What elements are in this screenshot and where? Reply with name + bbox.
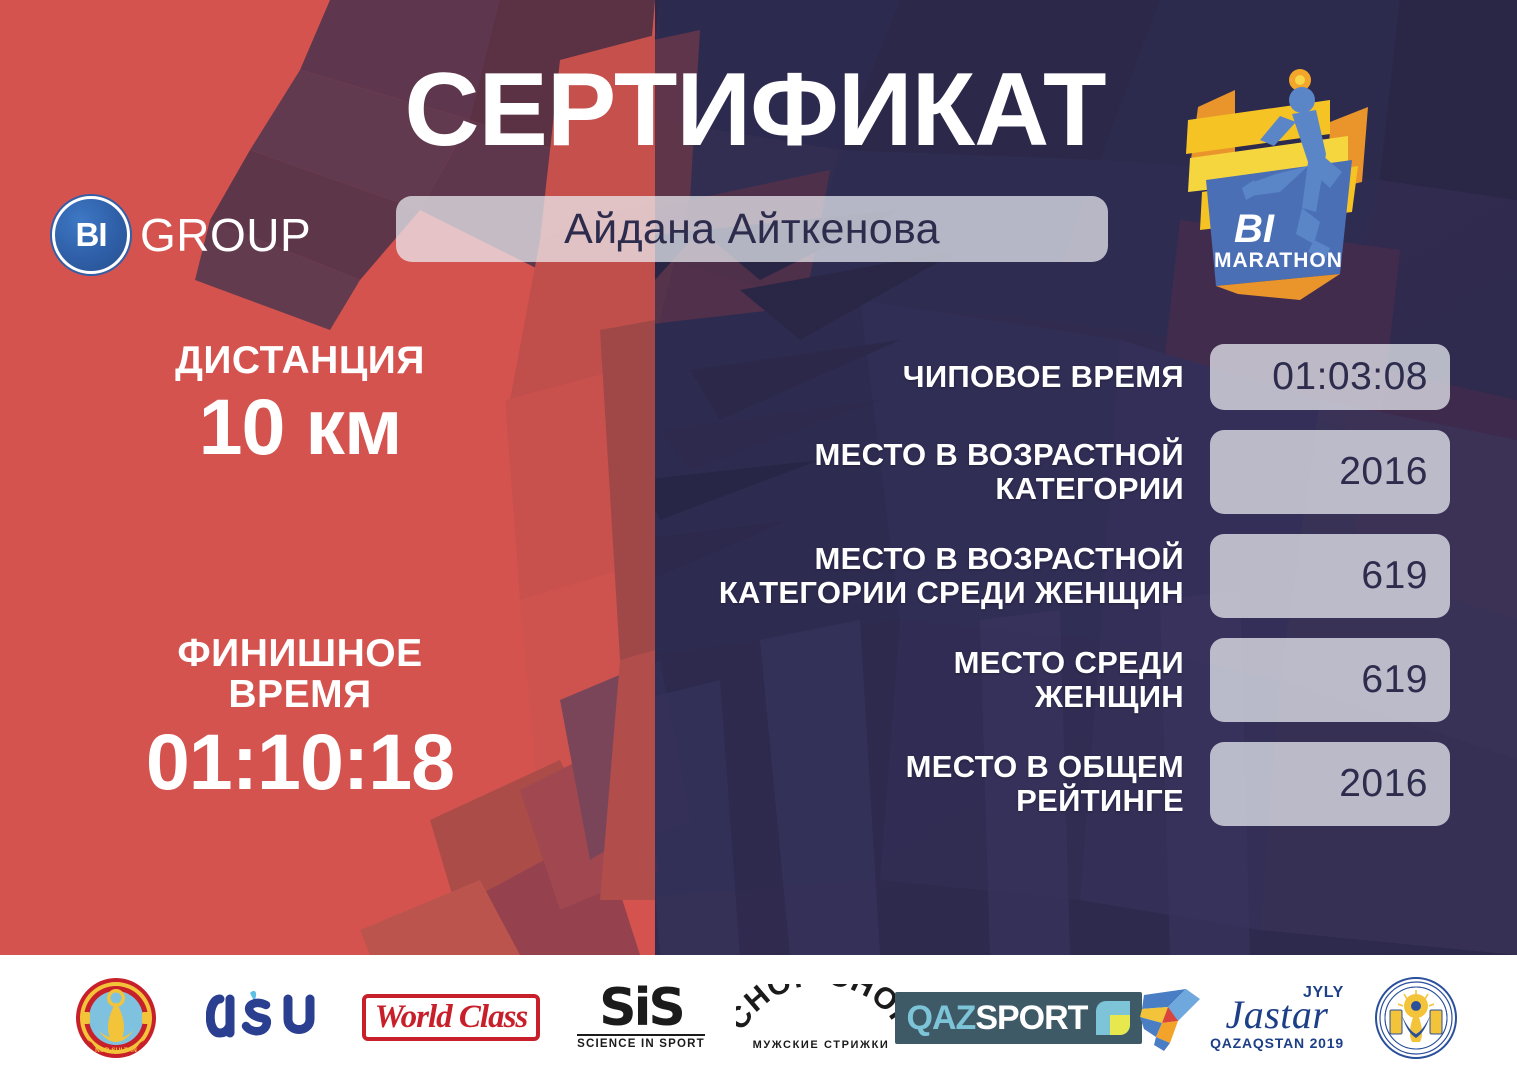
qazsport-text-a: QAZ [907, 1001, 976, 1035]
stat-row-age-category: МЕСТО В ВОЗРАСТНОЙ КАТЕГОРИИ 2016 [520, 430, 1450, 514]
finish-time-label-line2: ВРЕМЯ [60, 674, 540, 715]
chop-chop-arc-icon: CHOP-CHOP [736, 984, 906, 1036]
sis-logo: SiS SCIENCE IN SPORT [551, 968, 731, 1068]
left-stats-column: ДИСТАНЦИЯ 10 км ФИНИШНОЕ ВРЕМЯ 01:10:18 [60, 340, 540, 802]
sport-ministry-emblem-logo [1356, 968, 1476, 1068]
age-category-women-label-line2: КАТЕГОРИИ СРЕДИ ЖЕНЩИН [520, 576, 1184, 610]
age-category-women-label-line1: МЕСТО В ВОЗРАСТНОЙ [520, 542, 1184, 576]
women-overall-label-line2: ЖЕНЩИН [520, 680, 1184, 714]
stat-row-women-overall: МЕСТО СРЕДИ ЖЕНЩИН 619 [520, 638, 1450, 722]
chip-time-pill: 01:03:08 [1210, 344, 1450, 410]
stat-row-overall-rating: МЕСТО В ОБЩЕМ РЕЙТИНГЕ 2016 [520, 742, 1450, 826]
chop-chop-text: CHOP-CHOP [736, 984, 906, 1036]
finish-time-value: 01:10:18 [60, 722, 540, 803]
distance-label: ДИСТАНЦИЯ [60, 340, 540, 381]
right-stats-column: ЧИПОВОЕ ВРЕМЯ 01:03:08 МЕСТО В ВОЗРАСТНО… [520, 344, 1450, 846]
women-overall-label: МЕСТО СРЕДИ ЖЕНЩИН [520, 646, 1210, 714]
jastar-subtext: QAZAQSTAN 2019 [1210, 1035, 1344, 1051]
women-overall-pill: 619 [1210, 638, 1450, 722]
nur-sultan-emblem-logo: NUR-SULTAN [41, 968, 191, 1068]
bi-marathon-line2: MARATHON [1214, 249, 1343, 272]
age-category-pill: 2016 [1210, 430, 1450, 514]
bi-group-word-text: GROUP [140, 208, 311, 262]
bi-group-logo: BI GROUP [52, 196, 311, 274]
asu-logo-icon [206, 985, 336, 1051]
bi-marathon-logo: BI MARATHON [1180, 62, 1380, 302]
sis-text: SiS [577, 985, 705, 1033]
world-class-box: World Class [362, 994, 541, 1041]
age-category-women-pill: 619 [1210, 534, 1450, 618]
certificate-canvas: СЕРТИФИКАТ Айдана Айткенова BI GROUP [0, 0, 1517, 1080]
finish-time-label-line1: ФИНИШНОЕ [60, 633, 540, 674]
age-category-label: МЕСТО В ВОЗРАСТНОЙ КАТЕГОРИИ [520, 438, 1210, 506]
women-overall-label-line1: МЕСТО СРЕДИ [520, 646, 1184, 680]
chip-time-label-line1: ЧИПОВОЕ ВРЕМЯ [520, 360, 1184, 394]
chip-time-label: ЧИПОВОЕ ВРЕМЯ [520, 360, 1210, 394]
age-category-label-line2: КАТЕГОРИИ [520, 472, 1184, 506]
overall-rating-pill: 2016 [1210, 742, 1450, 826]
world-class-logo: World Class [351, 968, 551, 1068]
certificate-title: СЕРТИФИКАТ [340, 58, 1170, 162]
bi-group-mark-text: BI [76, 218, 107, 251]
svg-text:CHOP-CHOP: CHOP-CHOP [736, 984, 906, 1036]
sport-ministry-emblem-icon [1374, 976, 1458, 1060]
jastar-bird-icon [1138, 983, 1204, 1053]
distance-value: 10 км [60, 387, 540, 468]
stat-row-chip-time: ЧИПОВОЕ ВРЕМЯ 01:03:08 [520, 344, 1450, 410]
chop-chop-subtext: МУЖСКИЕ СТРИЖКИ [736, 1039, 906, 1051]
qazsport-bar: QAZ SPORT [895, 992, 1143, 1044]
participant-name: Айдана Айткенова [564, 205, 940, 254]
qazsport-mark-icon [1096, 1001, 1130, 1035]
sponsor-footer: NUR-SULTAN World Class SiS SCIENCE IN SP… [0, 955, 1517, 1080]
stat-row-age-category-women: МЕСТО В ВОЗРАСТНОЙ КАТЕГОРИИ СРЕДИ ЖЕНЩИ… [520, 534, 1450, 618]
overall-rating-label-line2: РЕЙТИНГЕ [520, 784, 1184, 818]
nur-sultan-emblem-text: NUR-SULTAN [95, 1047, 137, 1054]
participant-name-field: Айдана Айткенова [396, 196, 1108, 262]
chop-chop-logo: CHOP-CHOP МУЖСКИЕ СТРИЖКИ [731, 968, 911, 1068]
overall-rating-label: МЕСТО В ОБЩЕМ РЕЙТИНГЕ [520, 750, 1210, 818]
age-category-value: 2016 [1339, 450, 1428, 494]
chip-time-value: 01:03:08 [1272, 355, 1428, 399]
distance-block: ДИСТАНЦИЯ 10 км [60, 340, 540, 468]
overall-rating-label-line1: МЕСТО В ОБЩЕМ [520, 750, 1184, 784]
age-category-women-label: МЕСТО В ВОЗРАСТНОЙ КАТЕГОРИИ СРЕДИ ЖЕНЩИ… [520, 542, 1210, 610]
qazsport-logo: QAZ SPORT [911, 968, 1126, 1068]
qazsport-text-b: SPORT [975, 1001, 1087, 1035]
finish-time-block: ФИНИШНОЕ ВРЕМЯ 01:10:18 [60, 633, 540, 802]
bi-group-disc-icon: BI [52, 196, 130, 274]
bi-marathon-icon: BI MARATHON [1180, 62, 1380, 302]
bi-marathon-line1: BI [1234, 207, 1275, 251]
jastar-jyly-logo: JYLY Jastar QAZAQSTAN 2019 [1126, 968, 1356, 1068]
nur-sultan-emblem-icon: NUR-SULTAN [74, 976, 158, 1060]
world-class-text: World Class [375, 1001, 528, 1034]
jastar-text: Jastar [1225, 996, 1328, 1034]
overall-rating-value: 2016 [1339, 762, 1428, 806]
women-overall-value: 619 [1361, 658, 1428, 702]
asu-logo [191, 968, 351, 1068]
age-category-label-line1: МЕСТО В ВОЗРАСТНОЙ [520, 438, 1184, 472]
age-category-women-value: 619 [1361, 554, 1428, 598]
